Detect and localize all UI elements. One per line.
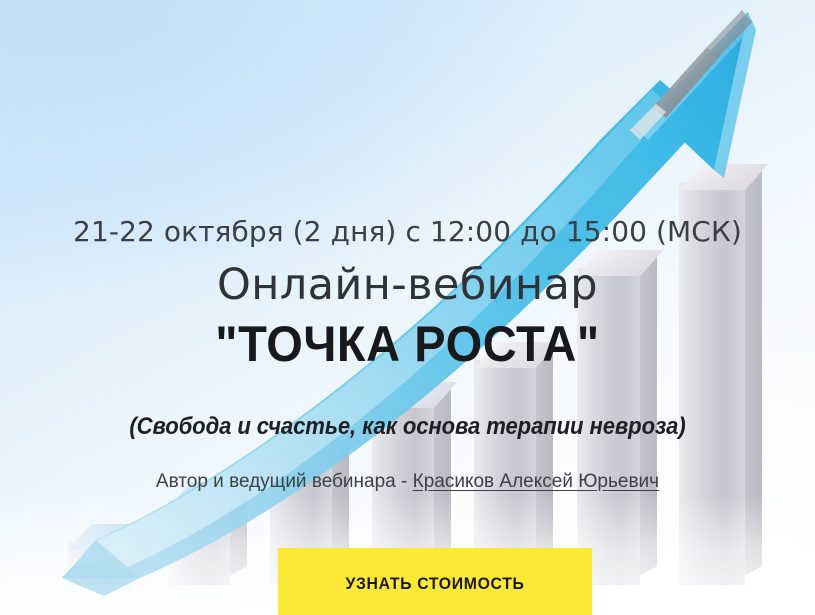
author-name-link[interactable]: Красиков Алексей Юрьевич: [413, 471, 659, 492]
banner-content: 21-22 октября (2 дня) с 12:00 до 15:00 (…: [0, 0, 815, 615]
event-subtitle: (Свобода и счастье, как основа терапии н…: [33, 413, 783, 441]
learn-price-button[interactable]: УЗНАТЬ СТОИМОСТЬ: [278, 548, 592, 615]
event-date-line: 21-22 октября (2 дня) с 12:00 до 15:00 (…: [0, 215, 815, 248]
author-prefix-label: Автор и ведущий вебинара -: [156, 471, 413, 492]
event-format-label: Онлайн-вебинар: [0, 260, 815, 310]
author-line: Автор и ведущий вебинара - Красиков Алек…: [0, 471, 815, 493]
page-title: "ТОЧКА РОСТА": [24, 315, 790, 373]
webinar-banner: 21-22 октября (2 дня) с 12:00 до 15:00 (…: [0, 0, 815, 615]
